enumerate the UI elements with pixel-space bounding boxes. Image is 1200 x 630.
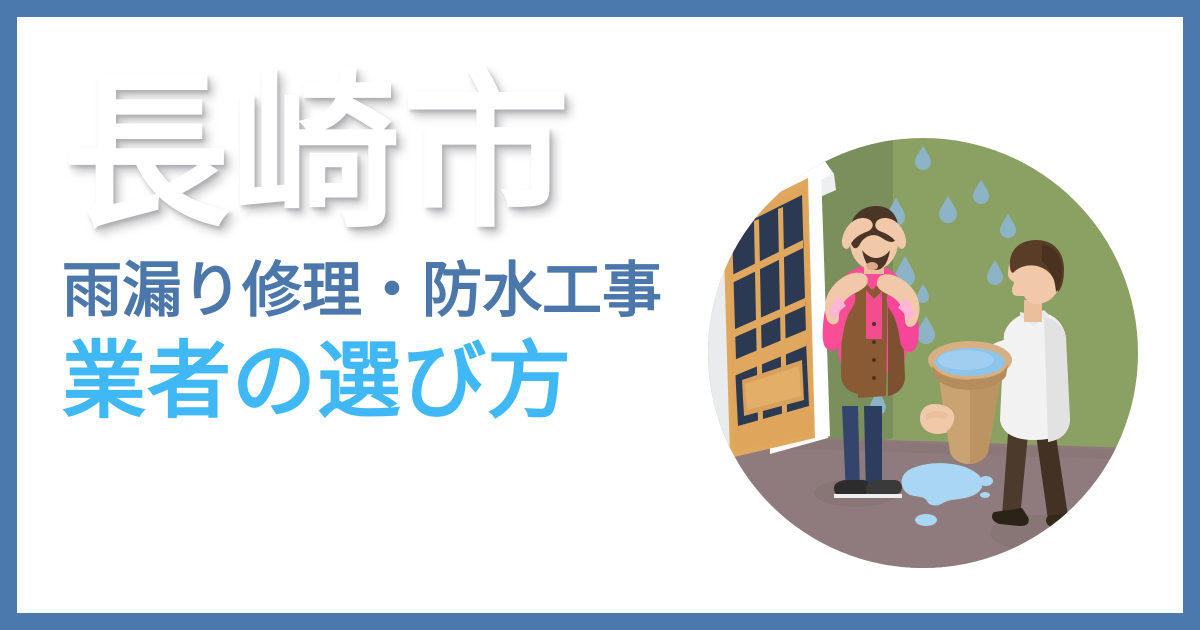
bucket-water-highlight [938, 350, 994, 370]
text-block: 長崎市 雨漏り修理・防水工事 業者の選び方 [62, 55, 722, 431]
man1-shoe-left [834, 480, 870, 496]
roof-leak-illustration [708, 138, 1138, 568]
water-puddle-droplet-1 [979, 476, 993, 486]
subtitle: 雨漏り修理・防水工事 [62, 253, 722, 329]
man1-shoe-right-sole [866, 494, 902, 498]
man1-vest-button-3 [872, 358, 876, 362]
banner-inner-panel: 長崎市 雨漏り修理・防水工事 業者の選び方 [17, 17, 1183, 613]
water-puddle-droplet-3 [915, 514, 937, 526]
man1-vest-button-2 [872, 340, 876, 344]
banner-root: 長崎市 雨漏り修理・防水工事 業者の選び方 [0, 0, 1200, 630]
man1-vest-button-1 [872, 322, 876, 326]
main-heading: 業者の選び方 [62, 331, 722, 431]
roof-leak-illustration-svg [708, 138, 1138, 568]
water-puddle-droplet-2 [980, 492, 990, 498]
man1-vest-button-4 [872, 376, 876, 380]
page-title: 長崎市 [62, 55, 722, 251]
man1-shoe-right [866, 480, 902, 496]
illustration-scene [708, 138, 1138, 568]
man1-shoe-left-sole [834, 494, 870, 498]
